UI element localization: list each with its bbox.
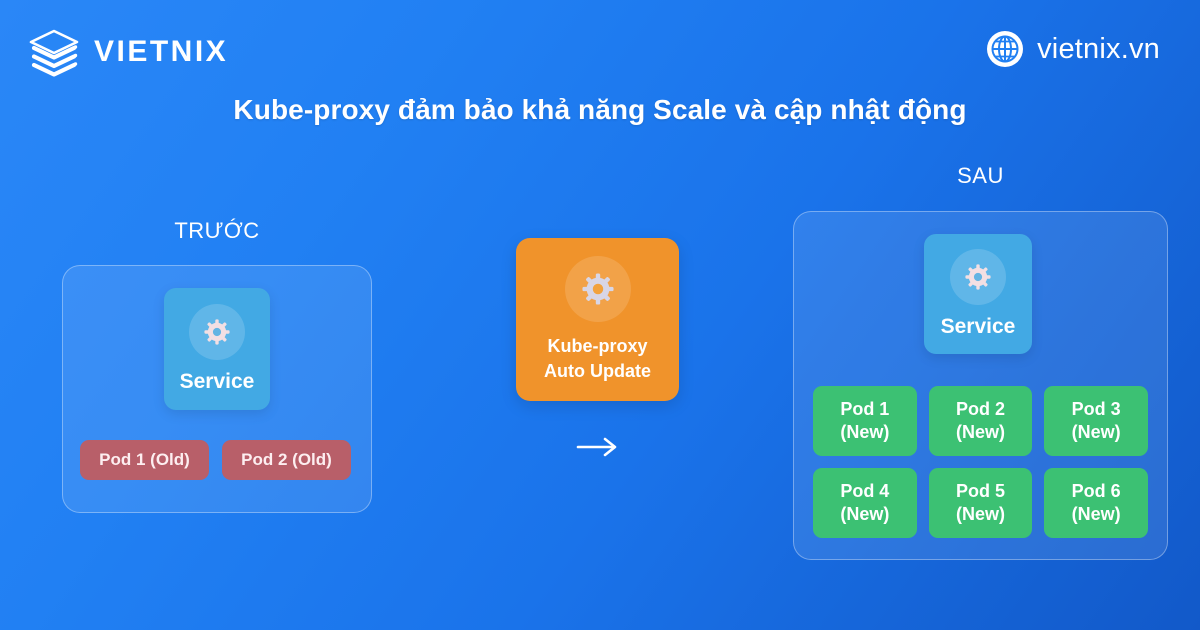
- site-url-text: vietnix.vn: [1037, 33, 1160, 66]
- after-pod-grid: Pod 1 (New) Pod 2 (New) Pod 3 (New) Pod …: [813, 386, 1148, 538]
- pod-new-name: Pod 2: [956, 398, 1005, 421]
- pod-new-name: Pod 3: [1072, 398, 1121, 421]
- after-service-card[interactable]: Service: [924, 234, 1032, 354]
- kube-proxy-line1: Kube-proxy: [544, 334, 651, 358]
- before-service-label: Service: [180, 370, 255, 394]
- pod-new-state: (New): [840, 503, 889, 526]
- brand-name: VIETNIX: [94, 37, 228, 67]
- pod-new-item[interactable]: Pod 3 (New): [1044, 386, 1148, 456]
- pod-old-item[interactable]: Pod 2 (Old): [222, 440, 351, 480]
- pod-new-item[interactable]: Pod 6 (New): [1044, 468, 1148, 538]
- before-service-card[interactable]: Service: [164, 288, 270, 410]
- stacked-layers-icon: [28, 26, 80, 78]
- pod-new-state: (New): [1072, 421, 1121, 444]
- pod-new-name: Pod 5: [956, 480, 1005, 503]
- kube-proxy-box[interactable]: Kube-proxy Auto Update: [516, 238, 679, 401]
- pod-new-item[interactable]: Pod 5 (New): [929, 468, 1033, 538]
- page-title: Kube-proxy đảm bảo khả năng Scale và cập…: [0, 94, 1200, 126]
- brand-logo-group[interactable]: VIETNIX: [28, 26, 228, 78]
- flow-arrow: [516, 435, 679, 464]
- pod-new-state: (New): [840, 421, 889, 444]
- globe-icon: [986, 30, 1024, 68]
- after-stage-label: SAU: [793, 163, 1168, 189]
- pod-old-item[interactable]: Pod 1 (Old): [80, 440, 209, 480]
- arrow-right-icon: [575, 446, 621, 463]
- pod-new-state: (New): [956, 503, 1005, 526]
- gear-icon: [950, 249, 1006, 305]
- pod-new-state: (New): [956, 421, 1005, 444]
- pod-new-item[interactable]: Pod 1 (New): [813, 386, 917, 456]
- pod-new-state: (New): [1072, 503, 1121, 526]
- pod-new-item[interactable]: Pod 2 (New): [929, 386, 1033, 456]
- before-pod-list: Pod 1 (Old) Pod 2 (Old): [80, 440, 351, 480]
- pod-new-item[interactable]: Pod 4 (New): [813, 468, 917, 538]
- pod-new-name: Pod 6: [1072, 480, 1121, 503]
- gear-icon: [189, 304, 245, 360]
- gear-icon: [565, 256, 631, 322]
- pod-new-name: Pod 4: [840, 480, 889, 503]
- after-service-label: Service: [941, 315, 1016, 339]
- kube-proxy-line2: Auto Update: [544, 359, 651, 383]
- before-stage-label: TRƯỚC: [62, 218, 372, 244]
- site-url-group[interactable]: vietnix.vn: [986, 30, 1160, 68]
- pod-new-name: Pod 1: [840, 398, 889, 421]
